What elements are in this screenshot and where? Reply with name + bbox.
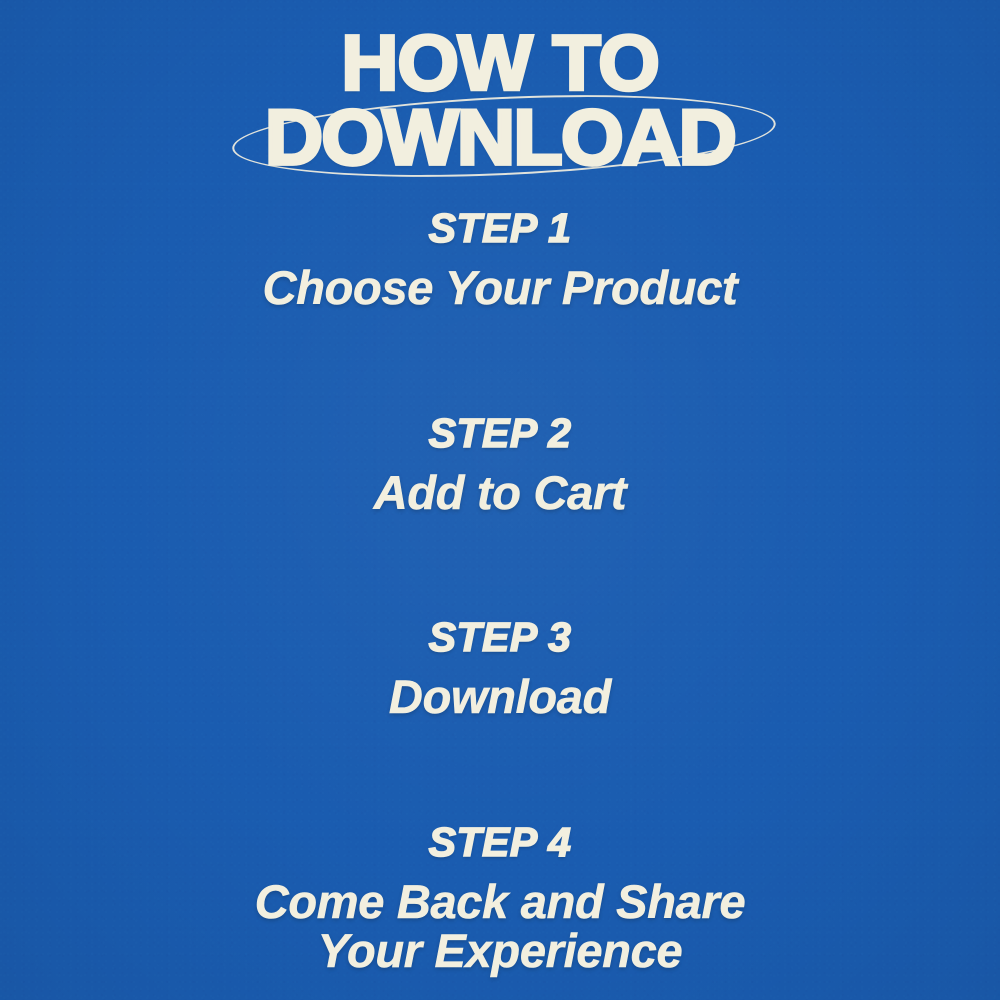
step-description-4-line-2: Your Experience [0, 927, 1000, 976]
step-description-1-line-1: Choose Your Product [0, 264, 1000, 313]
how-to-download-poster: HOW TO DOWNLOAD STEP 1 Choose Your Produ… [0, 0, 1000, 1000]
title-line-download-wrap: DOWNLOAD [0, 108, 1000, 170]
title-line-download: DOWNLOAD [0, 105, 1000, 172]
step-label-3: STEP 3 [0, 617, 1000, 659]
step-description-2: Add to Cart [0, 469, 1000, 518]
step-description-4-line-1: Come Back and Share [0, 878, 1000, 927]
step-item-1: STEP 1 Choose Your Product [0, 208, 1000, 313]
step-description-1: Choose Your Product [0, 264, 1000, 313]
poster-title: HOW TO DOWNLOAD [0, 36, 1000, 170]
step-description-3-line-1: Download [0, 673, 1000, 722]
step-description-2-line-1: Add to Cart [0, 469, 1000, 518]
step-description-4: Come Back and Share Your Experience [0, 878, 1000, 976]
step-item-4: STEP 4 Come Back and Share Your Experien… [0, 822, 1000, 976]
steps-list: STEP 1 Choose Your Product STEP 2 Add to… [0, 208, 1000, 976]
step-item-2: STEP 2 Add to Cart [0, 413, 1000, 518]
step-description-3: Download [0, 673, 1000, 722]
step-item-3: STEP 3 Download [0, 617, 1000, 722]
title-line-how-to: HOW TO [0, 31, 1000, 98]
step-label-4: STEP 4 [0, 822, 1000, 864]
step-label-1: STEP 1 [0, 208, 1000, 250]
step-label-2: STEP 2 [0, 413, 1000, 455]
